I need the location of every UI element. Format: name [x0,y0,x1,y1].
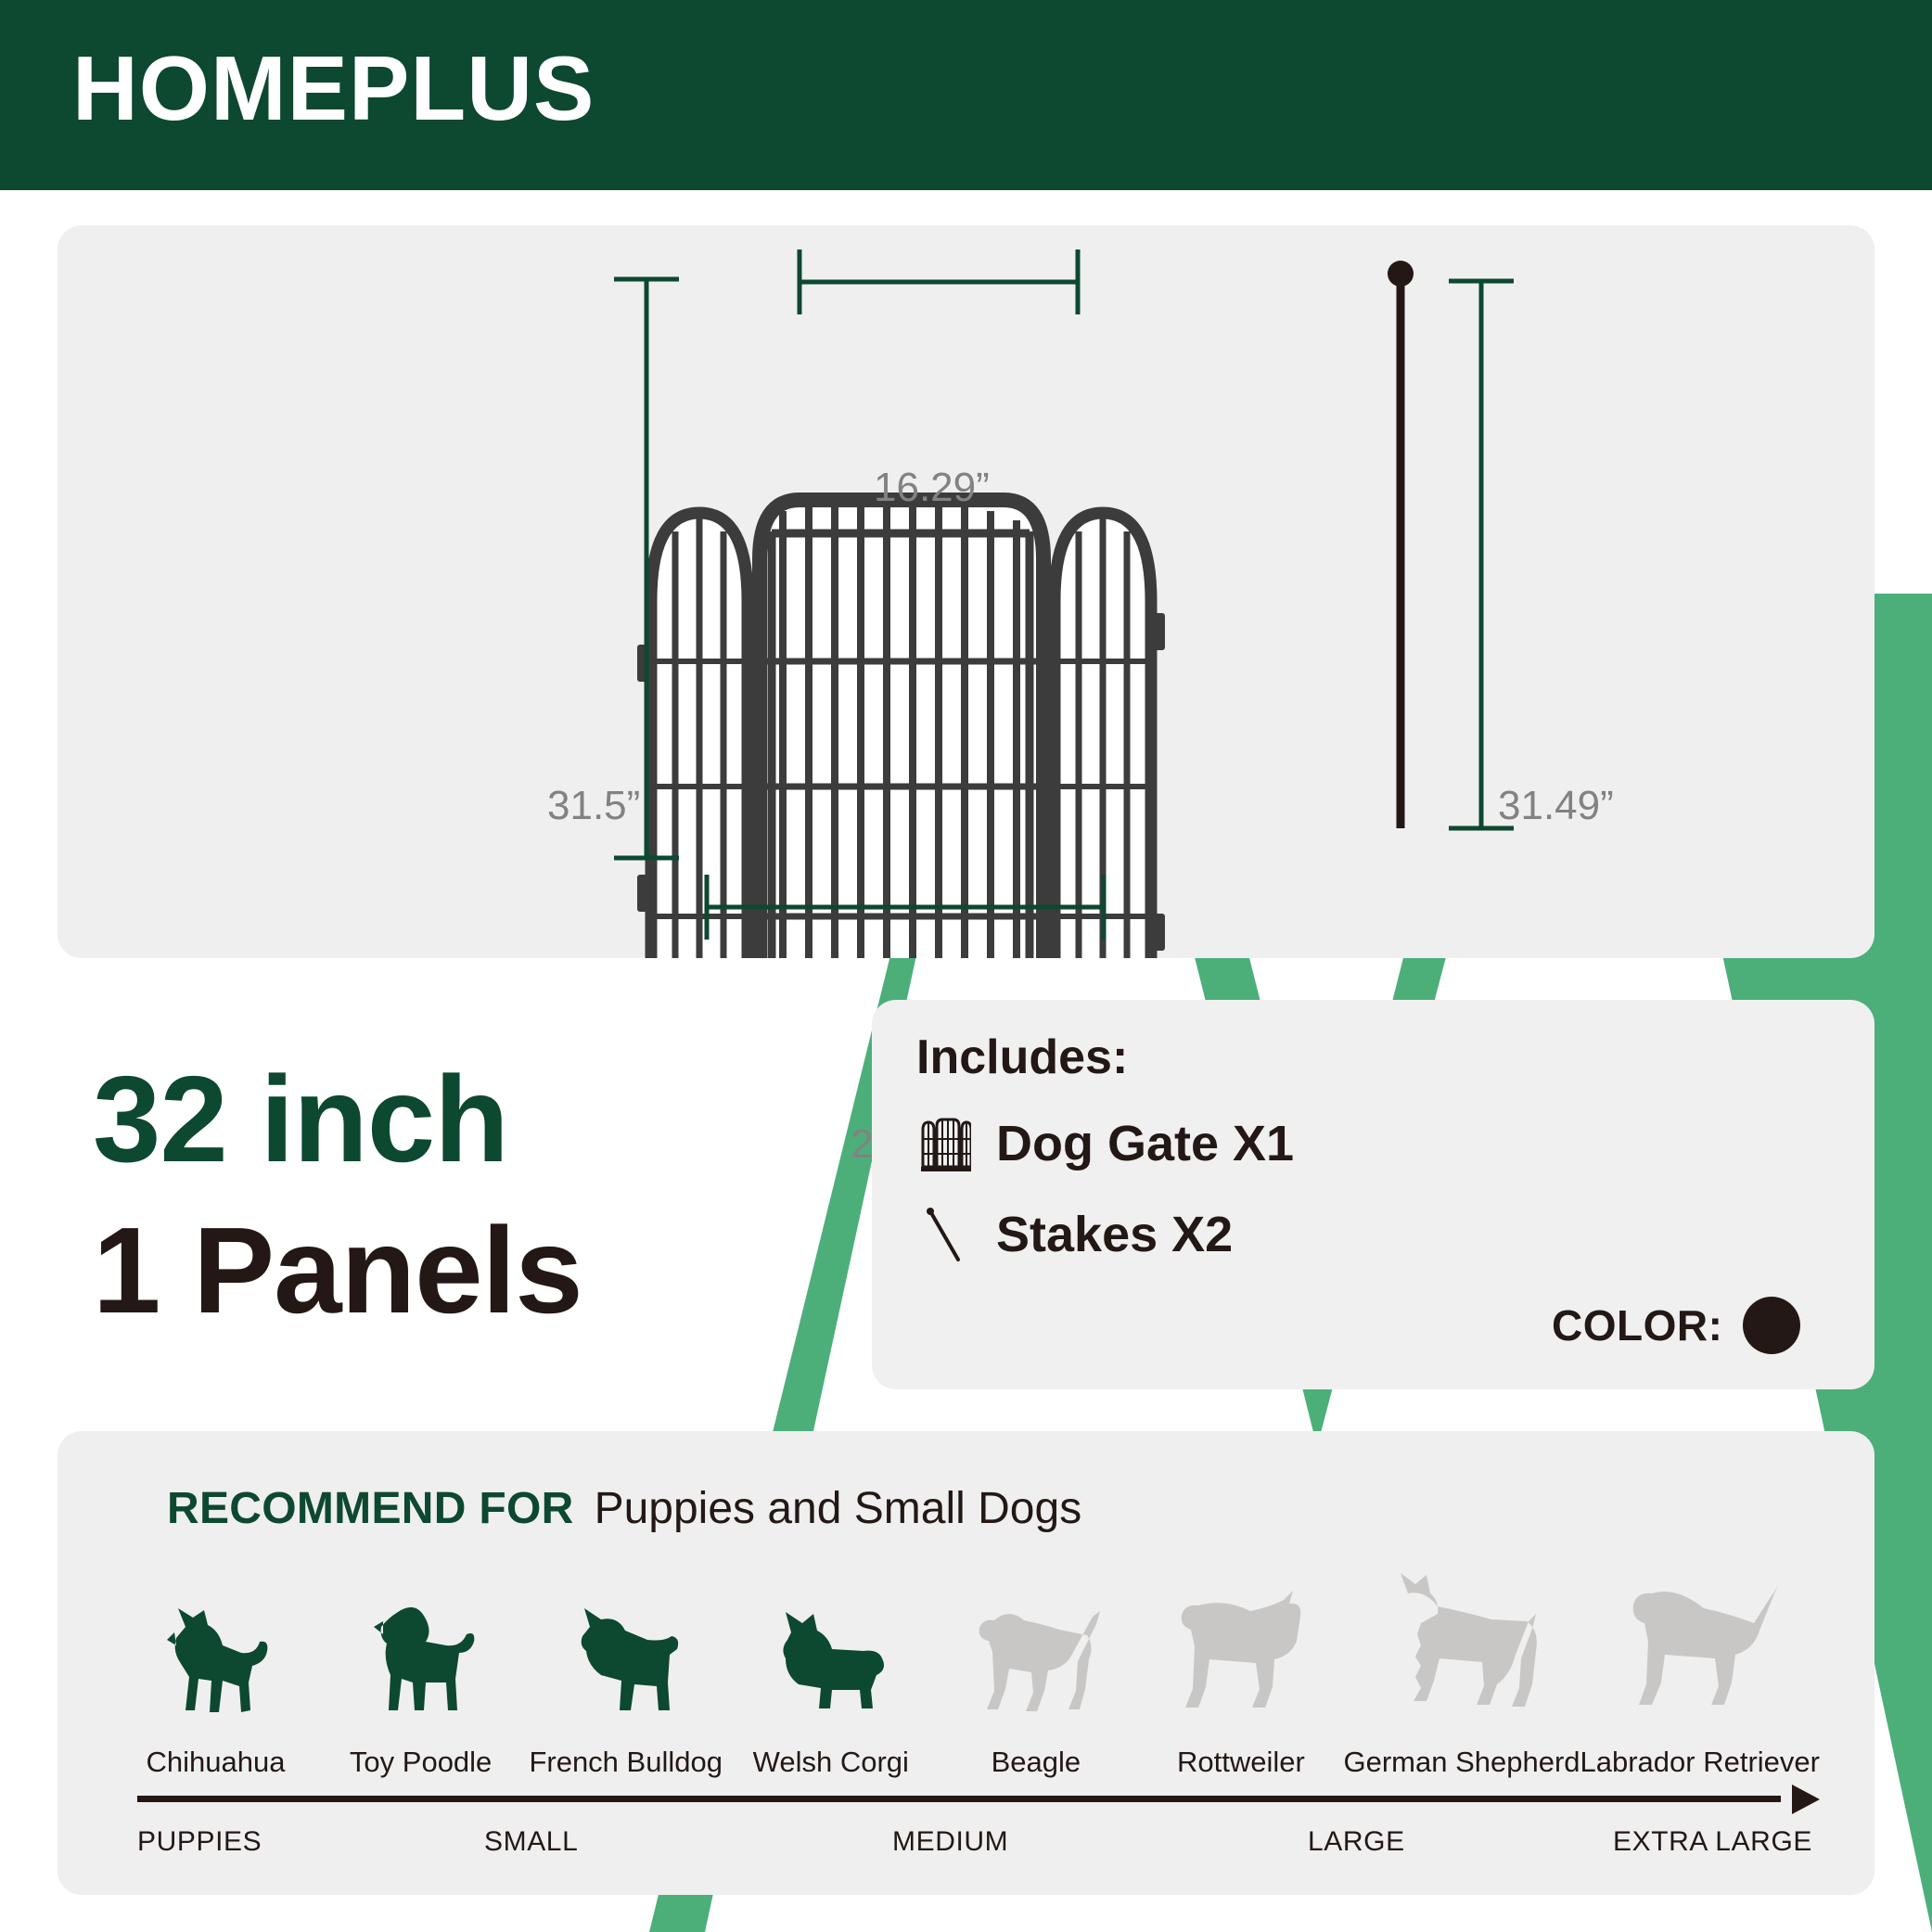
labrador-retriever-silhouette-icon [1619,1566,1781,1733]
breed-name: Chihuahua [147,1746,286,1779]
recommend-value: Puppies and Small Dogs [595,1483,1082,1534]
breed-name: Labrador Retriever [1580,1746,1820,1779]
arrow-right-icon [1792,1785,1820,1814]
breed-item: Rottweiler [1138,1570,1343,1779]
breed-item: French Bulldog [523,1593,728,1779]
beagle-silhouette-icon [966,1580,1106,1733]
ground-stake-diagram [1388,261,1414,828]
color-row: COLOR: [1552,1297,1800,1354]
dimension-label-stake-height: 31.49” [1498,783,1614,829]
recommend-card: RECOMMEND FOR Puppies and Small Dogs Chi… [58,1431,1874,1895]
color-label: COLOR: [1552,1300,1722,1350]
breed-scale-list: Chihuahua Toy Poodle French Bulldog Wels… [113,1570,1820,1779]
includes-item-label: Stakes X2 [996,1206,1233,1263]
dog-gate-diagram [637,500,1165,958]
recommend-heading: RECOMMEND FOR Puppies and Small Dogs [167,1483,1081,1534]
breed-name: German Shepherd [1343,1746,1580,1779]
scale-label: EXTRA LARGE [1613,1826,1812,1858]
includes-item: Stakes X2 [911,1198,1233,1271]
welsh-corgi-silhouette-icon [767,1593,895,1733]
breed-item: Labrador Retriever [1580,1566,1820,1779]
infographic-page: HOMEPLUS [0,0,1932,1932]
breed-name: Rottweiler [1177,1746,1305,1779]
includes-title: Includes: [916,1030,1128,1085]
breed-item: Beagle [933,1580,1138,1779]
includes-item: Dog Gate X1 [911,1107,1294,1180]
breed-name: Beagle [992,1746,1081,1779]
dog-gate-icon [911,1107,979,1180]
toy-poodle-silhouette-icon [357,1593,485,1733]
breed-item: Toy Poodle [318,1593,523,1779]
scale-label: LARGE [1308,1826,1405,1858]
dimension-label-width-top: 16.29” [874,465,990,511]
french-bulldog-silhouette-icon [562,1593,690,1733]
scale-label: PUPPIES [137,1826,262,1858]
scale-label: SMALL [484,1826,578,1858]
size-scale-labels: PUPPIES SMALL MEDIUM LARGE EXTRA LARGE [113,1826,1820,1863]
dimension-diagram [58,225,1874,958]
scale-label: MEDIUM [892,1826,1008,1858]
recommend-key: RECOMMEND FOR [167,1483,574,1534]
brand-logo-text: HOMEPLUS [72,43,595,134]
breed-item: German Shepherd [1343,1566,1580,1779]
german-shepherd-silhouette-icon [1380,1566,1542,1733]
breed-name: Welsh Corgi [753,1746,909,1779]
size-scale-arrow-line [113,1791,1820,1806]
rottweiler-silhouette-icon [1167,1570,1315,1733]
product-headline: 32 inch 1 Panels [93,1057,582,1333]
size-scale: PUPPIES SMALL MEDIUM LARGE EXTRA LARGE [113,1791,1820,1863]
stake-icon [911,1198,979,1271]
headline-panels: 1 Panels [93,1209,582,1334]
breed-item: Welsh Corgi [728,1593,933,1779]
scale-bar [137,1796,1781,1802]
chihuahua-silhouette-icon [152,1593,280,1733]
includes-item-label: Dog Gate X1 [996,1115,1294,1172]
breed-item: Chihuahua [113,1593,318,1779]
color-swatch-black-icon[interactable] [1743,1297,1800,1354]
page-header: HOMEPLUS [0,0,1932,190]
headline-size: 32 inch [93,1057,582,1183]
breed-name: Toy Poodle [350,1746,492,1779]
breed-name: French Bulldog [529,1746,723,1779]
dimension-diagram-card: 16.29” 31.5” 31.49” 26.7” [58,225,1874,958]
dimension-label-height-left: 31.5” [547,783,640,829]
